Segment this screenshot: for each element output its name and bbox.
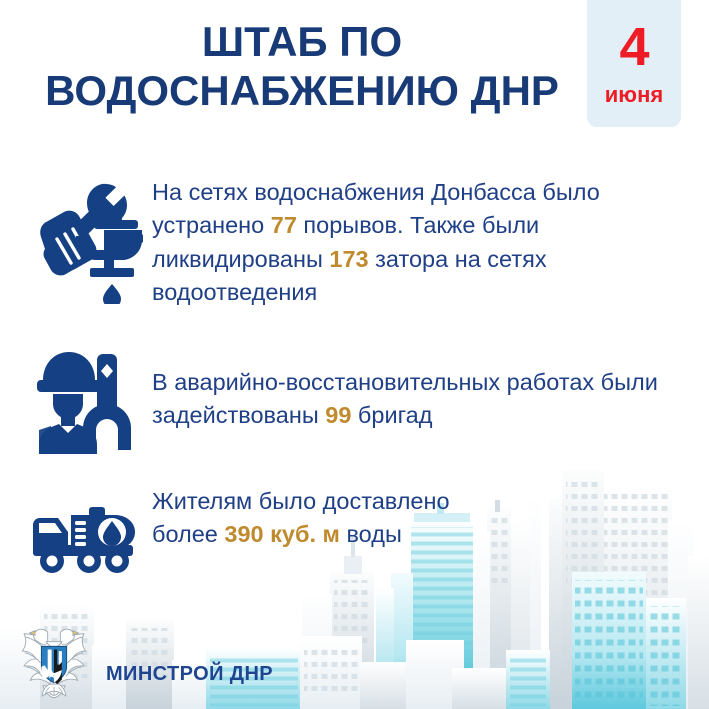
footer-label: МИНСТРОЙ ДНР <box>106 663 273 686</box>
seg: воды <box>340 521 402 547</box>
stat-highlight-breaks: 77 <box>271 212 297 238</box>
statistics-list: На сетях водоснабжения Донбасса было уст… <box>0 0 709 709</box>
stat-highlight-brigades: 99 <box>325 402 351 428</box>
footer: МИНСТРОЙ ДНР <box>14 618 273 700</box>
stat-text-water-delivery: Жителям было доставлено более 390 куб. м… <box>152 485 452 552</box>
dnr-double-headed-eagle-emblem <box>14 618 94 700</box>
water-tanker-truck-icon <box>22 485 152 577</box>
stat-highlight-blockages: 173 <box>329 246 368 272</box>
stat-row-water-network: На сетях водоснабжения Донбасса было уст… <box>22 172 682 309</box>
stat-row-water-delivery: Жителям было доставлено более 390 куб. м… <box>22 485 452 577</box>
stat-text-brigades: В аварийно-восстановительных работах был… <box>152 340 682 433</box>
stat-text-water-network: На сетях водоснабжения Донбасса было уст… <box>152 172 682 309</box>
infographic-poster: 4 июня ШТАБ ПО ВОДОСНАБЖЕНИЮ ДНР <box>0 0 709 709</box>
seg: бригад <box>351 402 432 428</box>
hand-wrench-faucet-icon <box>22 172 152 304</box>
worker-wrench-icon <box>22 340 152 454</box>
stat-row-brigades: В аварийно-восстановительных работах был… <box>22 340 682 454</box>
stat-highlight-volume: 390 куб. м <box>224 521 340 547</box>
